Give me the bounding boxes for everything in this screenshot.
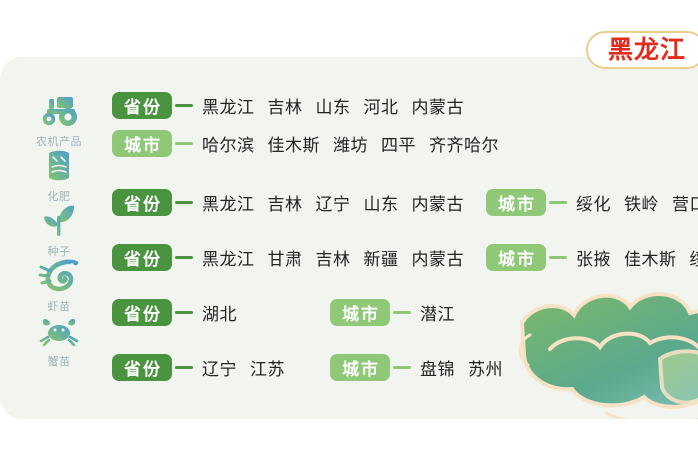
city-values: 潜江 <box>420 300 455 325</box>
category-item-fertilizer[interactable]: 化肥 <box>26 145 92 204</box>
value: 苏州 <box>468 360 503 379</box>
value: 黑龙江 <box>202 195 255 214</box>
province-values: 湖北 <box>202 300 237 325</box>
screenshot-root: 农机产品 化肥 <box>0 0 698 464</box>
province-badge[interactable]: 黑龙江 <box>586 31 698 69</box>
value: 新疆 <box>364 250 399 269</box>
city-values: 盘锦苏州 <box>420 355 503 380</box>
province-badge-label: 黑龙江 <box>608 38 686 63</box>
row-shrimp: 省份 湖北 城市 潜江 <box>112 297 455 327</box>
connector-dash <box>175 201 193 204</box>
category-item-seed[interactable]: 种子 <box>26 200 92 259</box>
province-pill[interactable]: 省份 <box>112 92 172 119</box>
value: 湖北 <box>202 305 237 324</box>
province-pill[interactable]: 省份 <box>112 354 172 381</box>
province-pill[interactable]: 省份 <box>112 189 172 216</box>
connector-dash <box>549 256 567 259</box>
city-pill[interactable]: 城市 <box>330 299 390 326</box>
province-values: 黑龙江甘肃吉林新疆内蒙古 <box>202 245 464 270</box>
regions-card: 农机产品 化肥 <box>0 57 698 419</box>
row-fertilizer: 省份 黑龙江吉林辽宁山东内蒙古 城市 绥化铁岭营口 <box>112 187 698 217</box>
city-group: 城市 潜江 <box>330 299 455 326</box>
value: 绥 <box>690 250 698 269</box>
value: 绥化 <box>576 195 611 214</box>
value: 辽宁 <box>316 195 351 214</box>
fertilizer-bag-icon <box>26 145 92 185</box>
value: 甘肃 <box>268 250 303 269</box>
value: 四平 <box>381 136 416 155</box>
value: 辽宁 <box>202 360 237 379</box>
province-group: 省份 湖北 <box>112 299 330 326</box>
province-group: 省份 黑龙江甘肃吉林新疆内蒙古 <box>112 244 464 271</box>
value: 佳木斯 <box>624 250 677 269</box>
value: 佳木斯 <box>268 136 321 155</box>
value: 吉林 <box>268 98 303 117</box>
province-values: 辽宁江苏 <box>202 355 285 380</box>
category-item-shrimp[interactable]: 虾苗 <box>26 255 92 314</box>
city-group: 城市 盘锦苏州 <box>330 354 503 381</box>
value: 内蒙古 <box>412 98 465 117</box>
province-group: 省份 辽宁江苏 <box>112 354 330 381</box>
value: 吉林 <box>316 250 351 269</box>
value: 齐齐哈尔 <box>429 136 499 155</box>
province-pill[interactable]: 省份 <box>112 299 172 326</box>
connector-dash <box>393 311 411 314</box>
value: 江苏 <box>250 360 285 379</box>
connector-dash <box>549 201 567 204</box>
city-pill[interactable]: 城市 <box>486 244 546 271</box>
category-item-tractor[interactable]: 农机产品 <box>26 90 92 149</box>
value: 张掖 <box>576 250 611 269</box>
value: 潜江 <box>420 305 455 324</box>
province-values: 黑龙江吉林辽宁山东内蒙古 <box>202 190 464 215</box>
value: 河北 <box>364 98 399 117</box>
connector-dash <box>175 366 193 369</box>
value: 内蒙古 <box>412 195 465 214</box>
connector-dash <box>175 311 193 314</box>
province-pill[interactable]: 省份 <box>112 244 172 271</box>
crab-icon <box>26 310 92 350</box>
connector-dash <box>175 104 193 107</box>
connector-dash <box>175 256 193 259</box>
province-values: 黑龙江吉林山东河北内蒙古 <box>202 93 464 118</box>
city-group: 城市 绥化铁岭营口 <box>486 189 698 216</box>
value: 山东 <box>316 98 351 117</box>
category-item-crab[interactable]: 蟹苗 <box>26 310 92 369</box>
province-group: 省份 黑龙江吉林辽宁山东内蒙古 <box>112 189 464 216</box>
connector-dash <box>175 142 193 145</box>
city-pill[interactable]: 城市 <box>112 130 172 157</box>
value: 黑龙江 <box>202 98 255 117</box>
value: 内蒙古 <box>412 250 465 269</box>
city-values: 绥化铁岭营口 <box>576 190 698 215</box>
shrimp-icon <box>26 255 92 295</box>
value: 黑龙江 <box>202 250 255 269</box>
value: 哈尔滨 <box>202 136 255 155</box>
row-tractor-cities: 城市 哈尔滨佳木斯潍坊四平齐齐哈尔 <box>112 128 499 158</box>
category-label: 蟹苗 <box>26 353 92 369</box>
row-crab: 省份 辽宁江苏 城市 盘锦苏州 <box>112 352 503 382</box>
row-seed: 省份 黑龙江甘肃吉林新疆内蒙古 城市 张掖佳木斯绥 <box>112 242 698 272</box>
city-pill[interactable]: 城市 <box>330 354 390 381</box>
city-pill[interactable]: 城市 <box>486 189 546 216</box>
value: 山东 <box>364 195 399 214</box>
value: 吉林 <box>268 195 303 214</box>
city-group: 城市 张掖佳木斯绥 <box>486 244 698 271</box>
city-values: 张掖佳木斯绥 <box>576 245 698 270</box>
value: 铁岭 <box>624 195 659 214</box>
value: 潍坊 <box>333 136 368 155</box>
connector-dash <box>393 366 411 369</box>
tractor-icon <box>26 90 92 130</box>
value: 营口 <box>672 195 698 214</box>
seedling-icon <box>26 200 92 240</box>
row-tractor-provinces: 省份 黑龙江吉林山东河北内蒙古 <box>112 90 464 120</box>
city-values: 哈尔滨佳木斯潍坊四平齐齐哈尔 <box>202 131 499 156</box>
value: 盘锦 <box>420 360 455 379</box>
